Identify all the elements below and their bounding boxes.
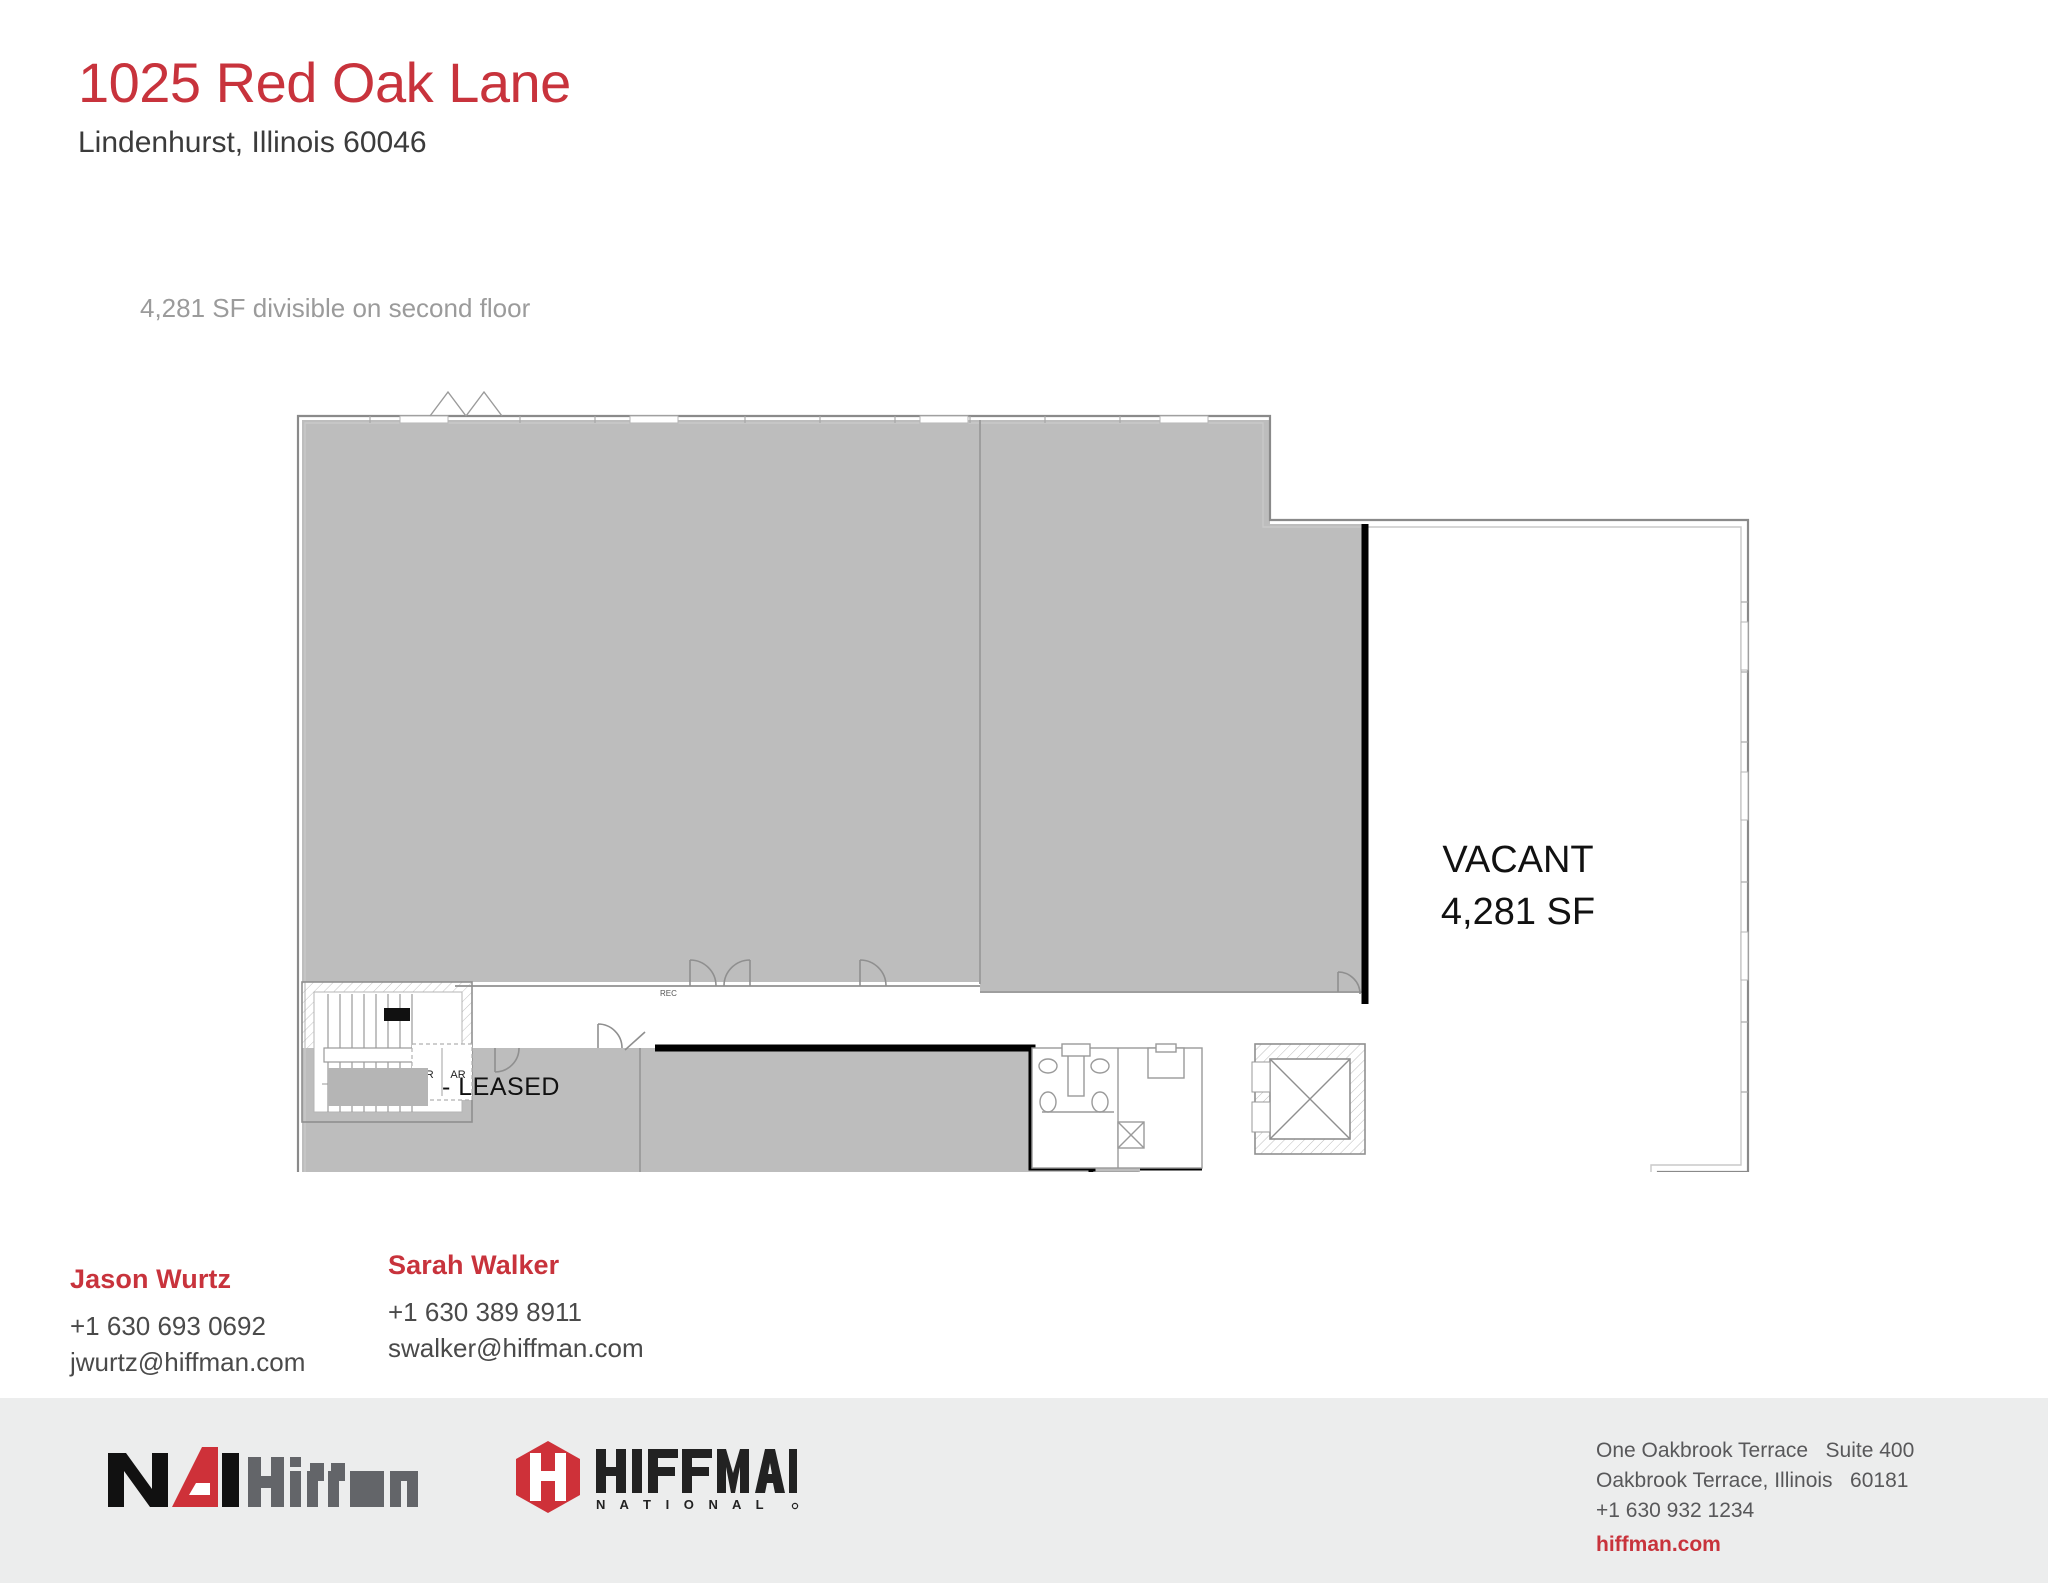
page-subtitle: Lindenhurst, Illinois 60046 [78,126,1278,160]
restrooms [1032,1044,1202,1172]
website-link[interactable]: hiffman.com [1596,1530,1996,1560]
hiffman-national-logo[interactable]: N A T I O N A L [512,1439,802,1513]
elevator [1252,1044,1365,1154]
contact-card-1: Jason Wurtz +1 630 693 0692 jwurtz@hiffm… [70,1262,305,1380]
contact-phone-1[interactable]: +1 630 693 0692 [70,1308,305,1344]
footer-logos: N A T I O N A L [106,1439,802,1513]
stair-marker [384,1008,410,1021]
legend-label-leased: - LEASED [442,1073,560,1102]
leased-block-upper-middle [980,420,1365,992]
brochure-page: 1025 Red Oak Lane Lindenhurst, Illinois … [0,0,2048,1583]
nai-hiffman-logo[interactable] [106,1443,446,1509]
contact-name-1: Jason Wurtz [70,1262,305,1296]
address-line-2: Oakbrook Terrace, Illinois 60181 [1596,1466,1996,1496]
national-wordmark: N A T I O N A L [596,1497,769,1512]
header: 1025 Red Oak Lane Lindenhurst, Illinois … [78,52,1278,160]
legend-swatch-leased [328,1068,428,1106]
vacant-label-group: VACANT 4,281 SF [1441,839,1595,933]
contact-card-2: Sarah Walker +1 630 389 8911 swalker@hif… [388,1248,644,1366]
contact-phone-2[interactable]: +1 630 389 8911 [388,1294,644,1330]
page-title: 1025 Red Oak Lane [78,52,1278,114]
contacts: Jason Wurtz +1 630 693 0692 jwurtz@hiffm… [70,1248,970,1378]
roof-peak-icon [430,392,502,416]
floorplan-svg: AR AR REC [280,372,1940,1172]
contact-email-2[interactable]: swalker@hiffman.com [388,1330,644,1366]
legend: - LEASED [328,1068,560,1106]
footer-address: One Oakbrook Terrace Suite 400 Oakbrook … [1596,1436,1996,1560]
rec-label: REC [660,989,677,998]
footer: N A T I O N A L One Oakbrook Terrace Sui… [0,1398,2048,1583]
availability-note: 4,281 SF divisible on second floor [140,293,530,323]
contact-name-2: Sarah Walker [388,1248,644,1282]
address-phone: +1 630 932 1234 [1596,1496,1996,1526]
floorplan: AR AR REC [280,372,1940,1172]
leased-block-upper-left [302,420,980,982]
vacant-label: VACANT [1442,839,1593,881]
address-line-1: One Oakbrook Terrace Suite 400 [1596,1436,1996,1466]
vacant-area-label: 4,281 SF [1441,891,1595,933]
contact-email-1[interactable]: jwurtz@hiffman.com [70,1344,305,1380]
